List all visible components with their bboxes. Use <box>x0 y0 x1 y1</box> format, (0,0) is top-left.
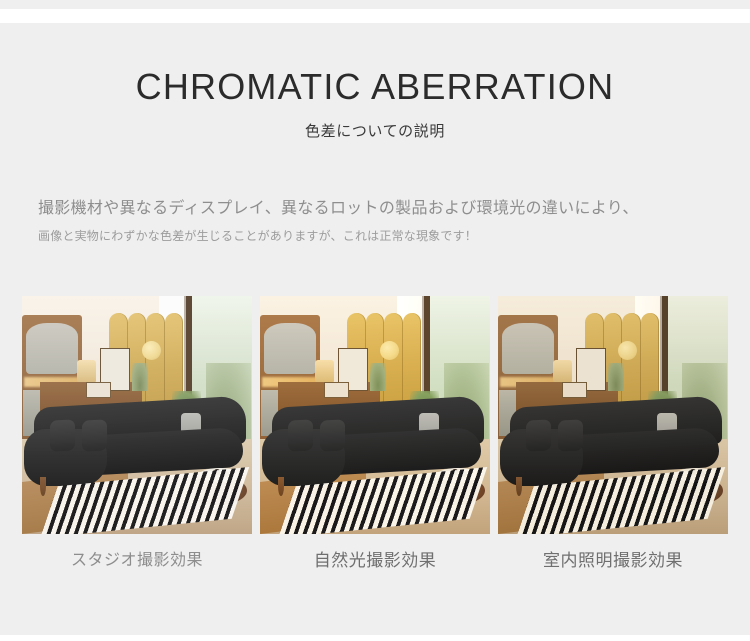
small-plant <box>608 363 624 392</box>
header: CHROMATIC ABERRATION 色差についての説明 <box>0 66 750 142</box>
page-title: CHROMATIC ABERRATION <box>0 66 750 108</box>
small-plant <box>370 363 386 392</box>
photo-indoor-lighting[interactable] <box>498 296 728 534</box>
scene-illustration <box>260 296 490 534</box>
table-lamp <box>553 360 571 381</box>
caption-natural-light: 自然光撮影効果 <box>260 548 490 578</box>
caption-row: スタジオ撮影効果 自然光撮影効果 室内照明撮影効果 <box>22 548 728 578</box>
framed-photo <box>86 382 111 398</box>
photo-studio-lighting[interactable] <box>22 296 252 534</box>
page-subtitle: 色差についての説明 <box>0 122 750 142</box>
scene-illustration <box>22 296 252 534</box>
caption-indoor-lighting: 室内照明撮影効果 <box>498 548 728 578</box>
photo-natural-light[interactable] <box>260 296 490 534</box>
table-lamp <box>315 360 333 381</box>
moon-motif <box>618 341 637 360</box>
cabinet-glass-doors <box>264 323 317 374</box>
small-plant <box>132 363 148 392</box>
chromatic-aberration-page: CHROMATIC ABERRATION 色差についての説明 撮影機材や異なるデ… <box>0 0 750 641</box>
moon-motif <box>380 341 399 360</box>
top-divider-band <box>0 9 750 23</box>
caption-studio-lighting: スタジオ撮影効果 <box>22 548 252 578</box>
cabinet-glass-doors <box>502 323 555 374</box>
description-line-2: 画像と実物にわずかな色差が生じることがありますが、これは正常な現象です！ <box>38 226 750 246</box>
scene-illustration <box>498 296 728 534</box>
description-line-1: 撮影機材や異なるディスプレイ、異なるロットの製品および環境光の違いにより、 <box>38 196 750 222</box>
table-lamp <box>77 360 95 381</box>
framed-photo <box>562 382 587 398</box>
bottom-divider-band <box>0 635 750 641</box>
moon-motif <box>142 341 161 360</box>
cabinet-glass-doors <box>26 323 79 374</box>
framed-photo <box>324 382 349 398</box>
description-block: 撮影機材や異なるディスプレイ、異なるロットの製品および環境光の違いにより、 画像… <box>0 196 750 246</box>
photo-gallery <box>22 296 728 534</box>
